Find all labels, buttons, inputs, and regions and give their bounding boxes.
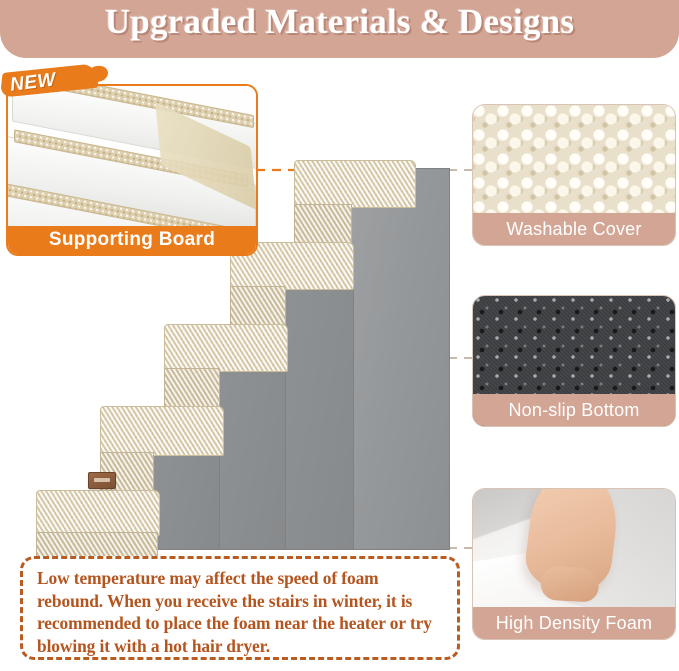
washable-cover-caption-label: Washable Cover (506, 219, 641, 240)
panel-high-density-foam: High Density Foam (472, 488, 676, 640)
new-badge: NEW (2, 62, 94, 100)
foam-caption-label: High Density Foam (496, 613, 652, 634)
warning-note-text: Low temperature may affect the speed of … (23, 559, 457, 657)
panel-supporting-board: Supporting Board (6, 84, 258, 256)
header-banner: Upgraded Materials & Designs (0, 0, 679, 58)
stair-side-panel-5 (348, 168, 450, 550)
stair-tread-3 (164, 324, 288, 372)
stair-tread-1 (36, 490, 160, 536)
stair-tread-2 (100, 406, 224, 456)
non-slip-caption-label: Non-slip Bottom (508, 400, 639, 421)
supporting-board-caption-label: Supporting Board (49, 229, 215, 251)
infographic-canvas: Upgraded Materials & Designs (0, 0, 679, 671)
foam-caption: High Density Foam (473, 607, 675, 639)
warning-note-box: Low temperature may affect the speed of … (20, 556, 460, 660)
stair-tread-5 (294, 160, 416, 208)
stair-side-panel-4 (280, 255, 354, 550)
non-slip-caption: Non-slip Bottom (473, 394, 675, 426)
panel-washable-cover: Washable Cover (472, 104, 676, 246)
panel-non-slip-bottom: Non-slip Bottom (472, 295, 676, 427)
supporting-board-caption: Supporting Board (8, 226, 256, 254)
washable-cover-caption: Washable Cover (473, 213, 675, 245)
page-title: Upgraded Materials & Designs (0, 2, 679, 42)
brand-tag (88, 472, 116, 489)
